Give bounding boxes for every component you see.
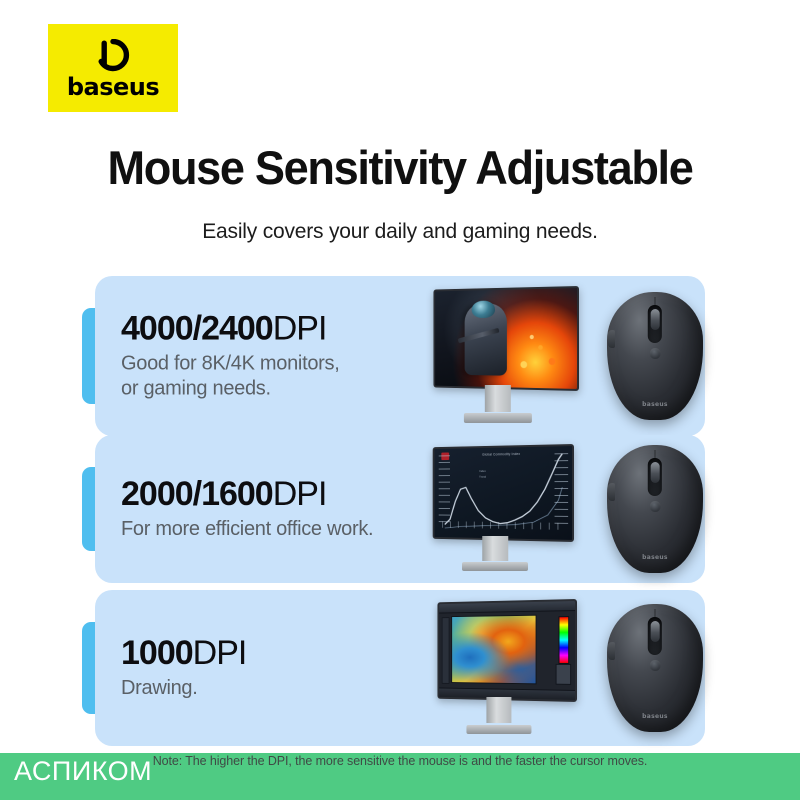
dpi-value-2: 2000/1600 (121, 475, 273, 513)
wireless-mouse-icon-2: baseus (607, 445, 703, 573)
editor-menu-bar (439, 601, 575, 613)
monitor-stand-neck-3 (486, 697, 511, 723)
dpi-card-1: 4000/2400DPI Good for 8K/4K monitors, or… (95, 276, 705, 436)
dpi-value-1: 4000/2400 (121, 309, 273, 347)
monitor-stand-neck-2 (482, 536, 508, 561)
dpi-card-3: 1000DPI Drawing. (95, 590, 705, 746)
chart-dashboard-graphic: Global Commodity Index IndexTrend (434, 446, 572, 540)
dpi-unit-1: DPI (273, 309, 327, 347)
dpi-feature-list: 4000/2400DPI Good for 8K/4K monitors, or… (0, 0, 800, 800)
monitor-stand-base-3 (466, 725, 531, 735)
monitor-screen-1 (433, 286, 579, 391)
editor-tool-column (442, 617, 450, 684)
mouse-scroll-wheel-1 (651, 309, 660, 331)
mouse-side-button-2 (608, 483, 615, 501)
editor-side-panel (556, 663, 571, 685)
dpi-card-2: 2000/1600DPI For more efficient office w… (95, 435, 705, 583)
monitor-stand-base-2 (462, 562, 528, 571)
mouse-side-button-3 (608, 642, 615, 660)
image-editor-graphic (439, 601, 575, 700)
dpi-card-1-text: 4000/2400DPI Good for 8K/4K monitors, or… (121, 310, 339, 401)
footer-note: Note: The higher the DPI, the more sensi… (0, 754, 800, 768)
dpi-description-3: Drawing. (121, 676, 246, 701)
dpi-unit-2: DPI (273, 475, 327, 513)
color-picker-gradient (559, 616, 570, 664)
dpi-heading-1: 4000/2400DPI (121, 310, 339, 347)
mouse-brand-label-3: baseus (642, 713, 668, 720)
dpi-description-2: For more efficient office work. (121, 517, 373, 542)
dpi-card-2-text: 2000/1600DPI For more efficient office w… (121, 476, 373, 542)
dpi-description-1: Good for 8K/4K monitors, or gaming needs… (121, 351, 339, 401)
mouse-scroll-wheel-3 (651, 621, 660, 643)
wireless-mouse-icon-1: baseus (607, 292, 703, 420)
mouse-brand-label-2: baseus (642, 554, 668, 561)
monitor-stand-neck-1 (484, 385, 510, 412)
chart-left-axis (438, 456, 450, 523)
soldier-helmet (472, 301, 496, 319)
mouse-brand-label-1: baseus (642, 401, 668, 408)
office-monitor-icon: Global Commodity Index IndexTrend (420, 444, 570, 574)
explosion-sparks (504, 324, 571, 382)
chart-right-axis (555, 454, 568, 525)
wireless-mouse-icon-3: baseus (607, 604, 703, 732)
dpi-heading-3: 1000DPI (121, 635, 246, 672)
monitor-stand-base-1 (463, 413, 531, 423)
drawing-monitor-icon (425, 599, 573, 737)
mouse-dpi-button-2 (650, 501, 661, 512)
editor-artwork-canvas (452, 616, 535, 684)
mouse-dpi-button-3 (650, 660, 661, 671)
accent-tab-2 (82, 467, 108, 551)
game-scene-graphic (435, 288, 577, 389)
dpi-unit-3: DPI (193, 634, 247, 672)
mouse-side-button-1 (608, 330, 615, 348)
mouse-dpi-button-1 (650, 348, 661, 359)
dpi-heading-2: 2000/1600DPI (121, 476, 373, 513)
accent-tab-1 (82, 308, 108, 404)
monitor-screen-3 (437, 599, 577, 702)
gaming-monitor-icon (420, 286, 575, 426)
monitor-screen-2: Global Commodity Index IndexTrend (433, 444, 574, 542)
dpi-value-3: 1000 (121, 634, 193, 672)
dpi-card-3-text: 1000DPI Drawing. (121, 635, 246, 701)
mouse-scroll-wheel-2 (651, 462, 660, 484)
accent-tab-3 (82, 622, 108, 714)
